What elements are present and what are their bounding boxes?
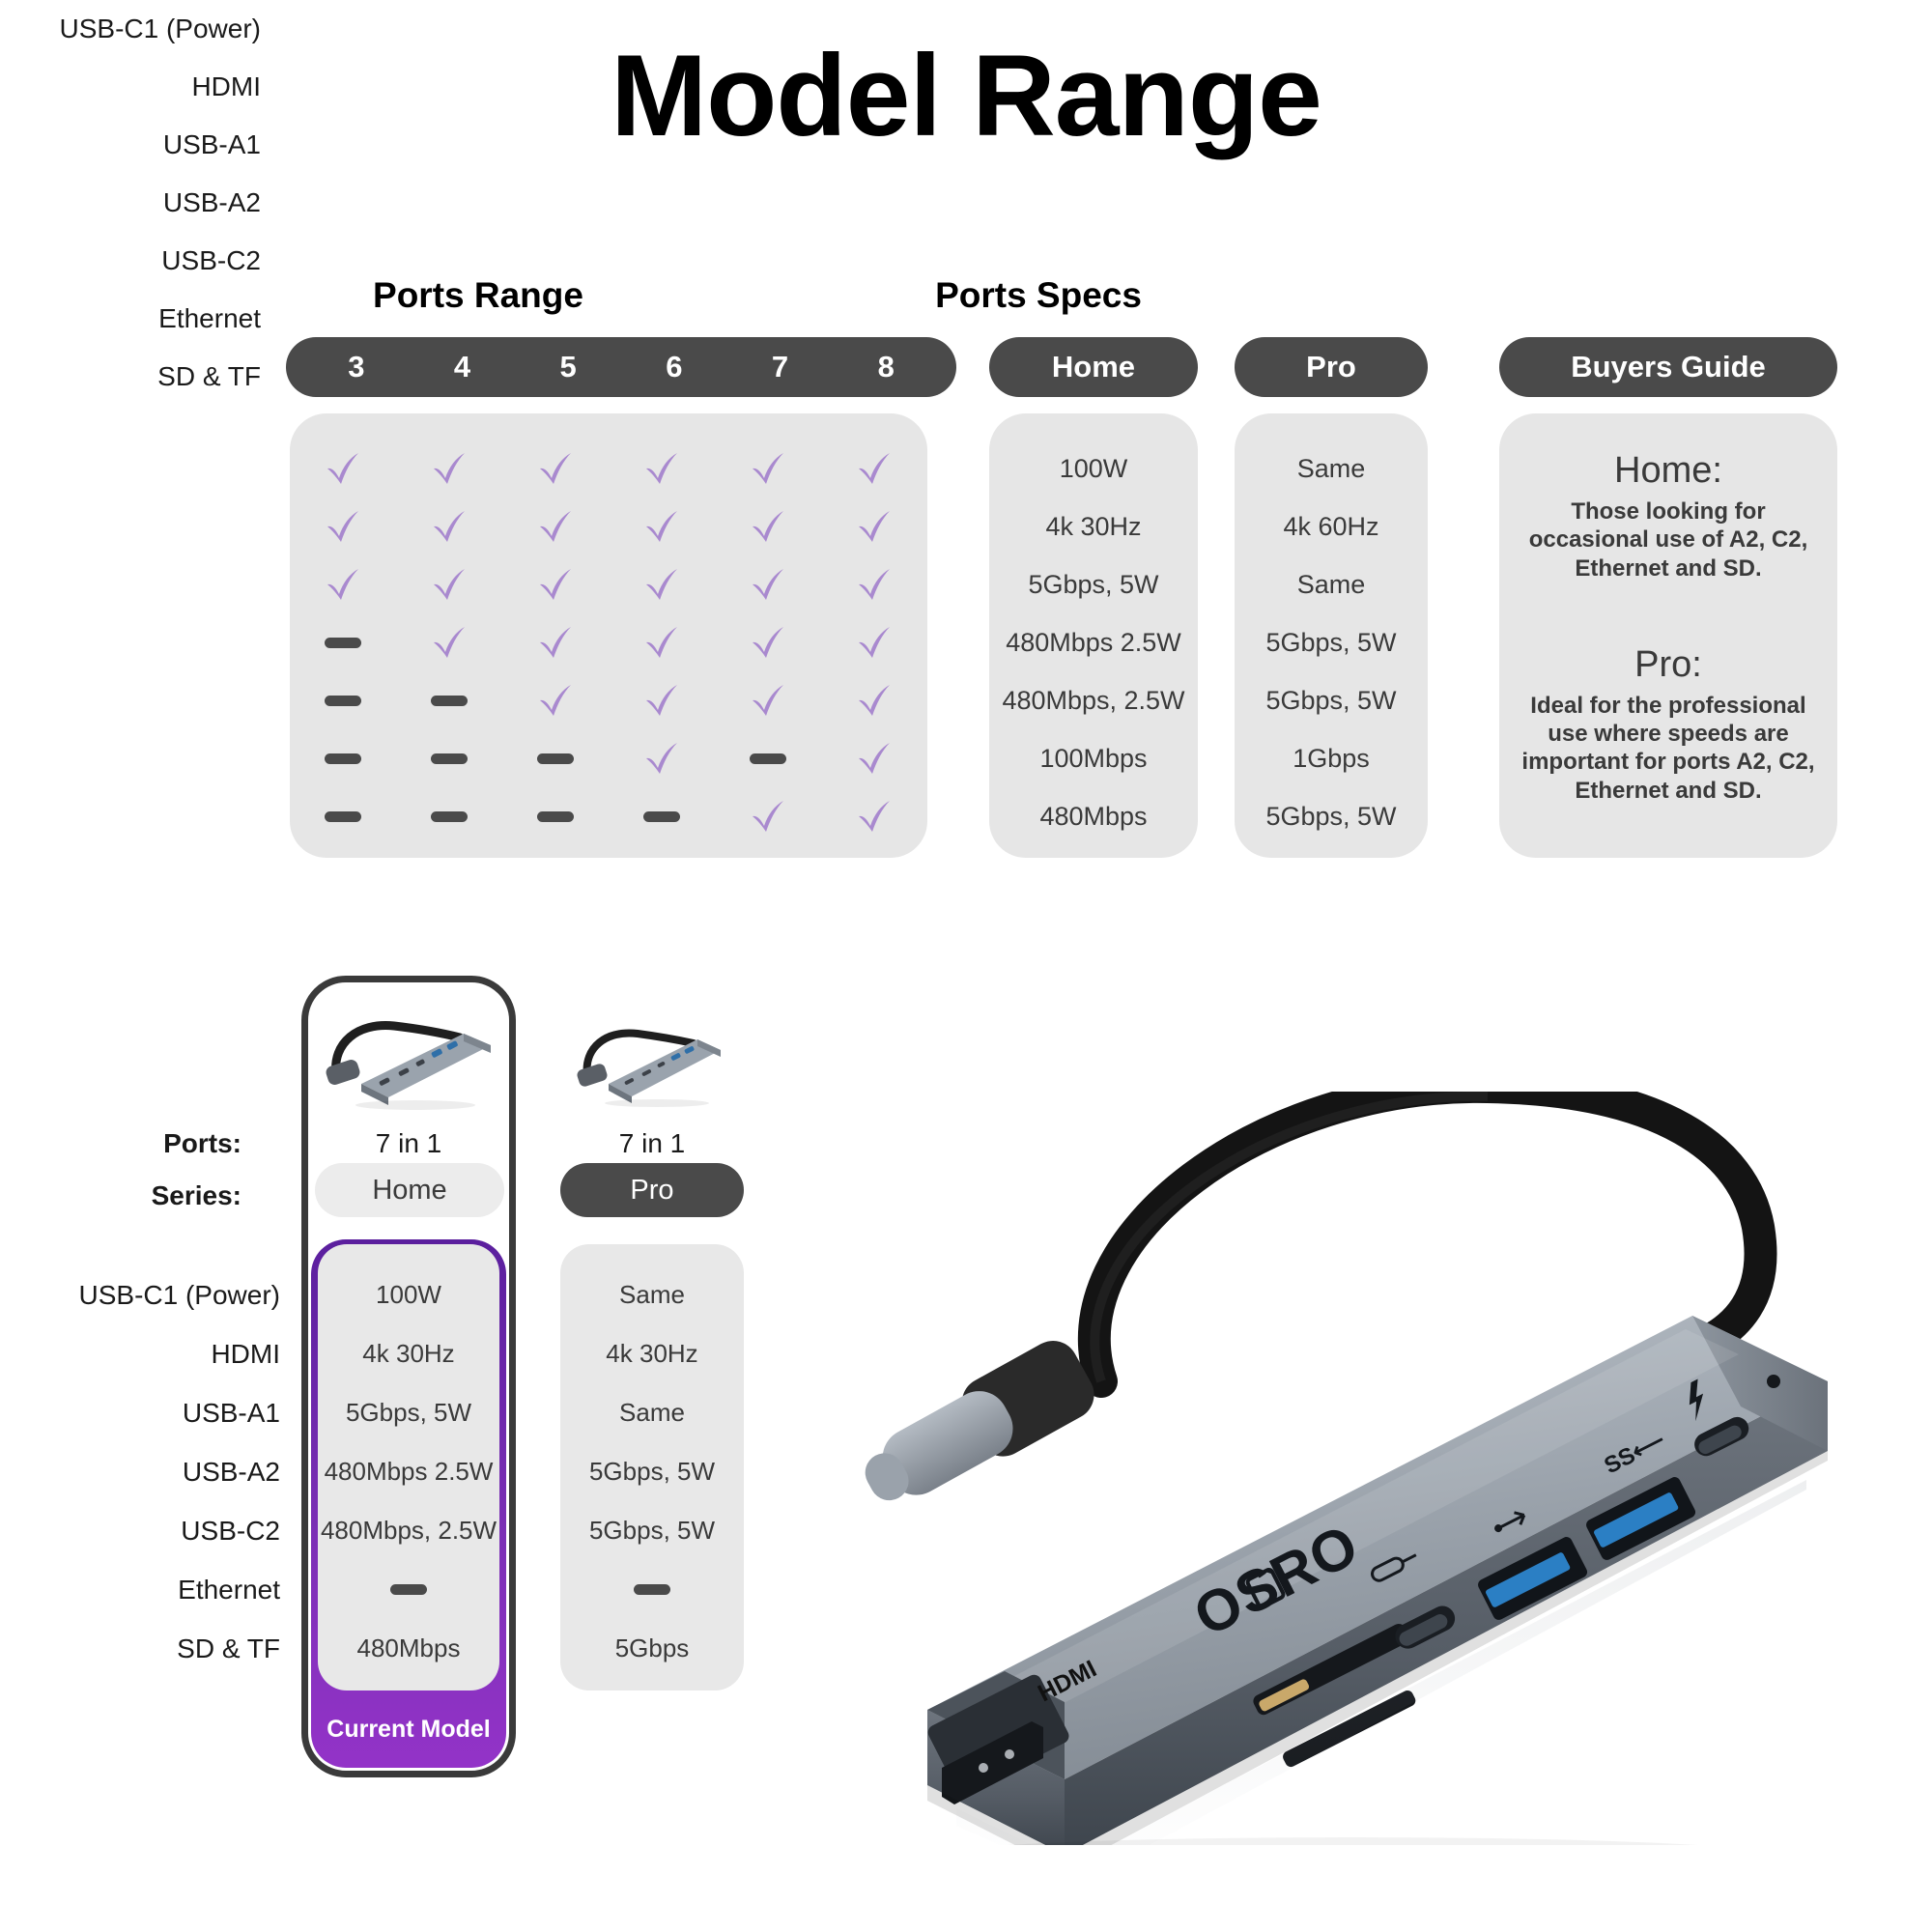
home-spec-value: 4k 30Hz: [989, 497, 1198, 555]
ports-r2-c2-check-icon: [536, 565, 575, 604]
pro-comparison-value: Same: [560, 1265, 744, 1324]
pro-spec-value: Same: [1235, 555, 1428, 613]
ports-cell: [290, 638, 396, 648]
ports-r4-c5-check-icon: [855, 681, 894, 720]
hero-product-photo: HDMI OSRO: [811, 1092, 1922, 1845]
buyers-home-body: Those looking for occasional use of A2, …: [1515, 497, 1822, 582]
ports-cell: [821, 797, 927, 836]
home-comparison-value: 5Gbps, 5W: [318, 1383, 499, 1442]
home-comparison-values: 100W4k 30Hz5Gbps, 5W480Mbps 2.5W480Mbps,…: [318, 1265, 499, 1678]
table-row: [290, 440, 927, 497]
ports-r2-c3-check-icon: [642, 565, 681, 604]
ports-cell: [609, 507, 715, 546]
home-comparison-value: [318, 1560, 499, 1619]
table-row: [290, 671, 927, 729]
pro-series-pill: Pro: [560, 1163, 744, 1217]
ports-r3-c4-check-icon: [749, 623, 787, 662]
home-ports-value: 7 in 1: [311, 1128, 506, 1159]
ports-r4-c1-dash-icon: [431, 696, 468, 706]
pro-comparison-value: 5Gbps, 5W: [560, 1501, 744, 1560]
current-model-badge: Current Model: [311, 1695, 506, 1763]
pro-spec-value: 5Gbps, 5W: [1235, 613, 1428, 671]
ports-r5-c4-dash-icon: [750, 753, 786, 764]
ports-r0-c1-check-icon: [430, 449, 469, 488]
ports-r4-c2-check-icon: [536, 681, 575, 720]
comparison-row-label: Ethernet: [19, 1560, 280, 1619]
home-cmp-5-dash-icon: [390, 1584, 427, 1595]
ports-r0-c0-check-icon: [324, 449, 362, 488]
ports-r0-c4-check-icon: [749, 449, 787, 488]
home-comparison-value: 480Mbps, 2.5W: [318, 1501, 499, 1560]
home-comparison-value: 480Mbps 2.5W: [318, 1442, 499, 1501]
ports-cell: [290, 811, 396, 822]
ports-r3-c2-check-icon: [536, 623, 575, 662]
ports-r1-c0-check-icon: [324, 507, 362, 546]
pro-comparison-values: Same4k 30HzSame5Gbps, 5W5Gbps, 5W5Gbps: [560, 1265, 744, 1678]
home-spec-value: 480Mbps: [989, 787, 1198, 845]
pro-spec-value: 4k 60Hz: [1235, 497, 1428, 555]
pro-ports-value: 7 in 1: [560, 1128, 744, 1159]
ports-cell: [290, 507, 396, 546]
ports-cell: [715, 565, 821, 604]
pro-spec-value: 1Gbps: [1235, 729, 1428, 787]
ports-r4-c3-check-icon: [642, 681, 681, 720]
ports-column-3: 3: [303, 350, 410, 384]
ports-cell: [609, 811, 715, 822]
home-spec-values: 100W4k 30Hz5Gbps, 5W480Mbps 2.5W480Mbps,…: [989, 440, 1198, 845]
led-indicator: [1767, 1375, 1780, 1388]
ports-cell: [396, 696, 502, 706]
ports-r5-c5-check-icon: [855, 739, 894, 778]
ports-r6-c0-dash-icon: [325, 811, 361, 822]
ports-r0-c3-check-icon: [642, 449, 681, 488]
ports-cell: [715, 753, 821, 764]
pro-spec-header: Pro: [1235, 337, 1428, 397]
table-row: [290, 787, 927, 845]
ports-r5-c2-dash-icon: [537, 753, 574, 764]
pro-spec-value: 5Gbps, 5W: [1235, 787, 1428, 845]
ports-column-5: 5: [515, 350, 621, 384]
ports-specs-heading: Ports Specs: [850, 275, 1227, 316]
buyers-pro-body: Ideal for the professional use where spe…: [1515, 692, 1822, 805]
ports-cell: [821, 739, 927, 778]
ports-cell: [821, 623, 927, 662]
pro-comparison-value: 5Gbps, 5W: [560, 1442, 744, 1501]
home-series-pill: Home: [315, 1163, 504, 1217]
comparison-row-label: USB-C1 (Power): [19, 1265, 280, 1324]
ports-column-6: 6: [621, 350, 727, 384]
ports-r2-c0-check-icon: [324, 565, 362, 604]
ports-r3-c3-check-icon: [642, 623, 681, 662]
ports-cell: [396, 811, 502, 822]
home-comparison-value: 480Mbps: [318, 1619, 499, 1678]
table-row: [290, 613, 927, 671]
ports-r1-c1-check-icon: [430, 507, 469, 546]
product-thumbnail-pro: [572, 1014, 731, 1111]
ports-cell: [609, 565, 715, 604]
ports-cell: [396, 753, 502, 764]
ports-cell: [821, 507, 927, 546]
ports-cell: [502, 623, 609, 662]
home-comparison-value: 4k 30Hz: [318, 1324, 499, 1383]
comparison-row-label: USB-C2: [19, 1501, 280, 1560]
ports-r5-c0-dash-icon: [325, 753, 361, 764]
ports-cell: [290, 449, 396, 488]
product-thumbnail-home: [319, 1005, 502, 1111]
comparison-row-label: SD & TF: [19, 1619, 280, 1678]
ports-cell: [715, 507, 821, 546]
home-spec-header: Home: [989, 337, 1198, 397]
page-title: Model Range: [0, 29, 1932, 162]
ports-r6-c4-check-icon: [749, 797, 787, 836]
ports-cell: [502, 753, 609, 764]
ports-r1-c2-check-icon: [536, 507, 575, 546]
pro-spec-value: Same: [1235, 440, 1428, 497]
ports-cell: [502, 681, 609, 720]
pro-spec-values: Same4k 60HzSame5Gbps, 5W5Gbps, 5W1Gbps5G…: [1235, 440, 1428, 845]
ports-cell: [715, 681, 821, 720]
ports-cell: [502, 565, 609, 604]
usb-c-connector: [850, 1332, 1103, 1522]
ports-cell: [609, 449, 715, 488]
ports-cell: [290, 696, 396, 706]
ports-r2-c1-check-icon: [430, 565, 469, 604]
ports-r4-c0-dash-icon: [325, 696, 361, 706]
ports-range-grid: [290, 440, 927, 845]
ports-cell: [715, 449, 821, 488]
ports-cell: [502, 811, 609, 822]
pro-cmp-5-dash-icon: [634, 1584, 670, 1595]
ports-cell: [609, 681, 715, 720]
ports-r1-c4-check-icon: [749, 507, 787, 546]
home-spec-value: 480Mbps, 2.5W: [989, 671, 1198, 729]
ports-cell: [396, 507, 502, 546]
ports-r6-c3-dash-icon: [643, 811, 680, 822]
ports-row-label: SD & TF: [0, 348, 261, 406]
home-spec-value: 100W: [989, 440, 1198, 497]
ports-cell: [502, 507, 609, 546]
buyers-pro-title: Pro:: [1515, 644, 1822, 686]
comparison-ports-label: Ports:: [39, 1128, 241, 1159]
comparison-series-label: Series:: [39, 1180, 241, 1211]
ports-cell: [821, 681, 927, 720]
ports-range-column-header: 345678: [286, 337, 956, 397]
ports-r3-c1-check-icon: [430, 623, 469, 662]
ports-row-label: USB-A2: [0, 174, 261, 232]
ports-r6-c1-dash-icon: [431, 811, 468, 822]
comparison-row-label: USB-A1: [19, 1383, 280, 1442]
buyers-guide-content: Home: Those looking for occasional use o…: [1499, 433, 1837, 805]
ports-r3-c5-check-icon: [855, 623, 894, 662]
pro-comparison-value: [560, 1560, 744, 1619]
ports-cell: [821, 565, 927, 604]
ports-r5-c1-dash-icon: [431, 753, 468, 764]
home-spec-value: 5Gbps, 5W: [989, 555, 1198, 613]
ports-cell: [609, 739, 715, 778]
ports-cell: [396, 623, 502, 662]
buyers-guide-header: Buyers Guide: [1499, 337, 1837, 397]
ports-r4-c4-check-icon: [749, 681, 787, 720]
ports-r0-c5-check-icon: [855, 449, 894, 488]
comparison-row-label: HDMI: [19, 1324, 280, 1383]
ports-cell: [396, 449, 502, 488]
ports-r5-c3-check-icon: [642, 739, 681, 778]
infographic-page: Model Range Ports Range Ports Specs 3456…: [0, 0, 1932, 1932]
ports-column-7: 7: [727, 350, 834, 384]
home-comparison-value: 100W: [318, 1265, 499, 1324]
ports-r1-c5-check-icon: [855, 507, 894, 546]
ports-cell: [821, 449, 927, 488]
ports-cell: [609, 623, 715, 662]
ports-row-label: USB-C2: [0, 232, 261, 290]
ports-cell: [715, 623, 821, 662]
ports-r3-c0-dash-icon: [325, 638, 361, 648]
ports-column-4: 4: [410, 350, 516, 384]
ports-row-label: Ethernet: [0, 290, 261, 348]
ports-cell: [715, 797, 821, 836]
table-row: [290, 555, 927, 613]
home-spec-value: 480Mbps 2.5W: [989, 613, 1198, 671]
pro-comparison-value: 4k 30Hz: [560, 1324, 744, 1383]
table-row: [290, 497, 927, 555]
ports-r2-c5-check-icon: [855, 565, 894, 604]
home-spec-value: 100Mbps: [989, 729, 1198, 787]
ports-r0-c2-check-icon: [536, 449, 575, 488]
ports-cell: [290, 753, 396, 764]
ports-r1-c3-check-icon: [642, 507, 681, 546]
ports-cell: [396, 565, 502, 604]
ports-range-heading: Ports Range: [290, 275, 667, 316]
ports-cell: [502, 449, 609, 488]
table-row: [290, 729, 927, 787]
buyers-guide-spacer: [1515, 582, 1822, 627]
comparison-row-label: USB-A2: [19, 1442, 280, 1501]
pro-spec-value: 5Gbps, 5W: [1235, 671, 1428, 729]
ports-r6-c2-dash-icon: [537, 811, 574, 822]
ports-column-8: 8: [833, 350, 939, 384]
comparison-row-labels: USB-C1 (Power)HDMIUSB-A1USB-A2USB-C2Ethe…: [19, 1265, 280, 1678]
ports-r6-c5-check-icon: [855, 797, 894, 836]
ports-r2-c4-check-icon: [749, 565, 787, 604]
ports-cell: [290, 565, 396, 604]
pro-comparison-value: 5Gbps: [560, 1619, 744, 1678]
buyers-home-title: Home:: [1515, 450, 1822, 492]
pro-comparison-value: Same: [560, 1383, 744, 1442]
